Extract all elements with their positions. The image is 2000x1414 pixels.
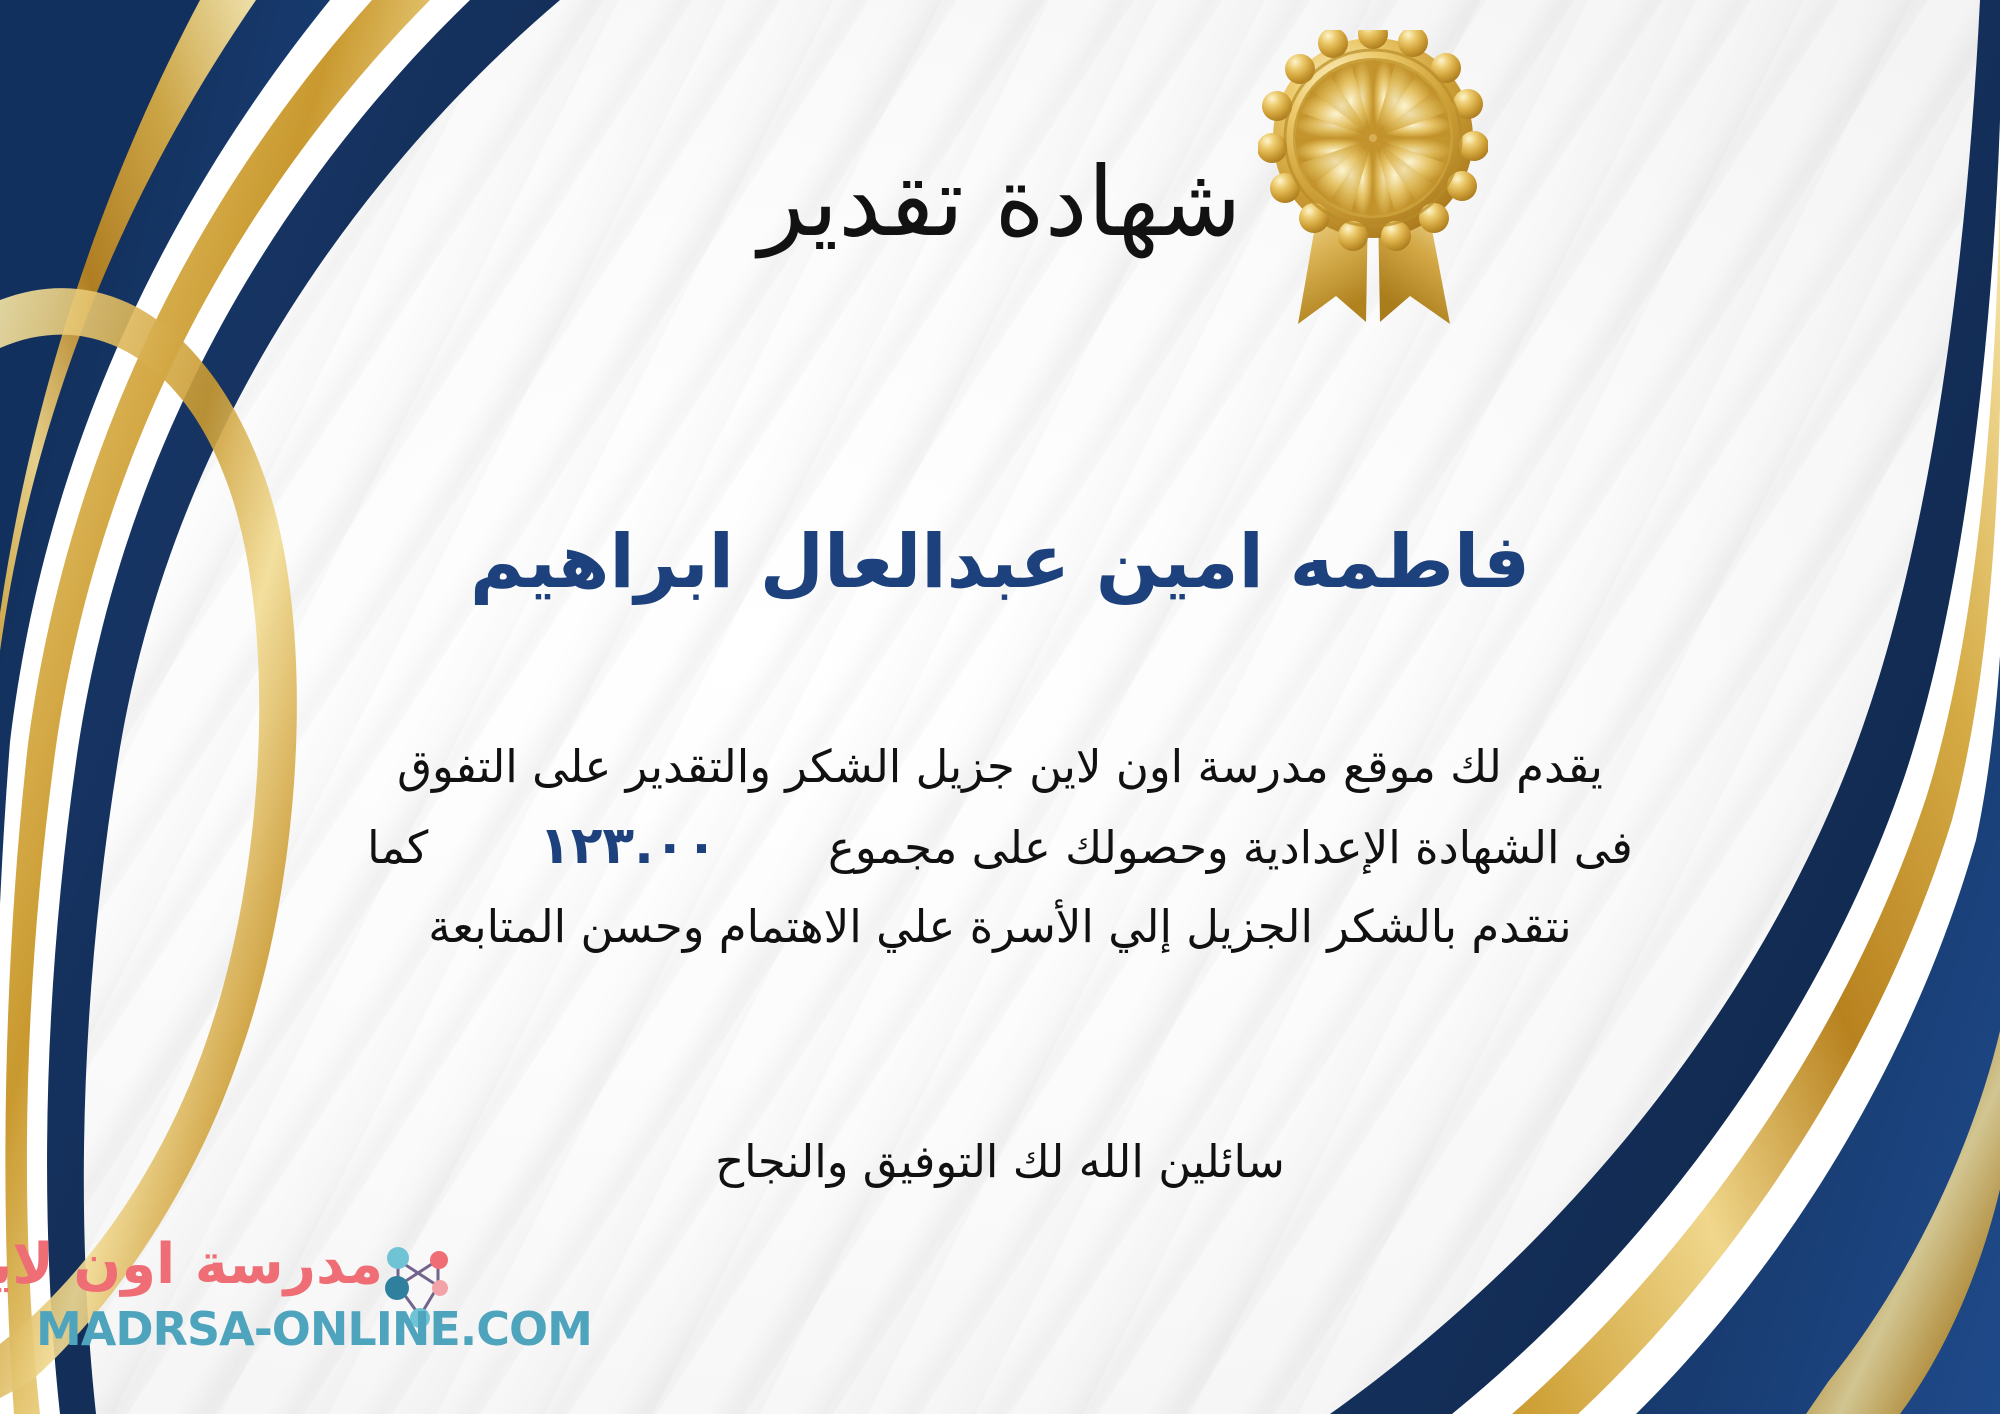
certificate-content: شهادة تقدير فاطمه امين عبدالعال ابراهيم … bbox=[150, 0, 1850, 1414]
body-line-3: نتقدم بالشكر الجزيل إلي الأسرة علي الاهت… bbox=[60, 890, 1940, 964]
site-logo[interactable]: مدرسة اون لاين MADRSA-ONLINE.COM bbox=[28, 1234, 458, 1384]
certificate-card: شهادة تقدير فاطمه امين عبدالعال ابراهيم … bbox=[0, 0, 2000, 1414]
recipient-name: فاطمه امين عبدالعال ابراهيم bbox=[150, 520, 1850, 605]
closing-message: سائلين الله لك التوفيق والنجاح bbox=[150, 1135, 1850, 1188]
body-line-2: فى الشهادة الإعدادية وحصولك على مجموع ١٢… bbox=[60, 804, 1940, 890]
body-line-2-prefix: فى الشهادة الإعدادية وحصولك على مجموع bbox=[828, 821, 1633, 874]
body-line-2-suffix: كما bbox=[367, 821, 428, 874]
logo-arabic-name: مدرسة اون لاين bbox=[0, 1234, 383, 1296]
page-title: شهادة تقدير bbox=[150, 150, 1850, 256]
body-line-1: يقدم لك موقع مدرسة اون لاين جزيل الشكر و… bbox=[60, 730, 1940, 804]
grade-value: ١٢٣.٠٠ bbox=[521, 804, 735, 890]
logo-website: MADRSA-ONLINE.COM bbox=[36, 1302, 592, 1356]
certificate-body: يقدم لك موقع مدرسة اون لاين جزيل الشكر و… bbox=[60, 730, 1940, 964]
